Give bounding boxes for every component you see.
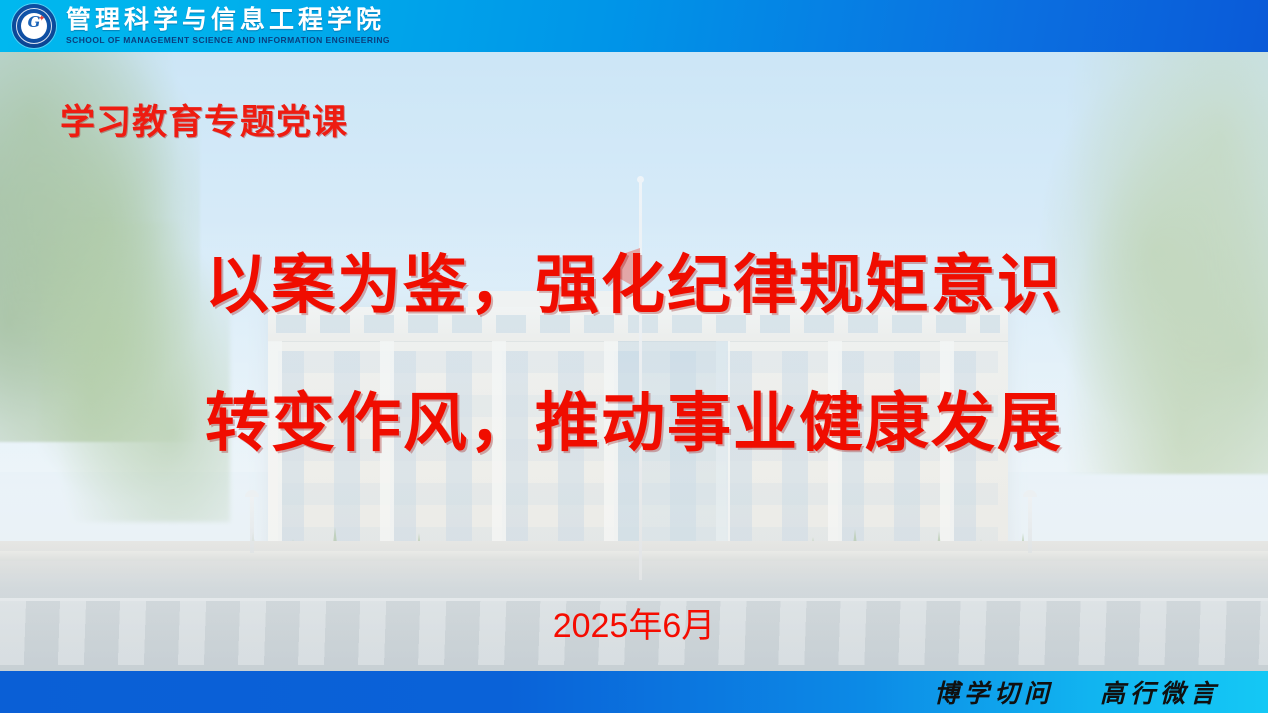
header-brand: G ✦ 管理科学与信息工程学院 SCHOOL OF MANAGEMENT SCI…	[12, 0, 390, 52]
footer-bar: 博学切问 高行微言	[0, 671, 1268, 713]
motto-phrase-right: 高行微言	[1100, 674, 1220, 710]
spark-icon: ✦	[38, 15, 45, 22]
school-name-cn: 管理科学与信息工程学院	[66, 7, 390, 33]
slide-title-line-1: 以案为鉴，强化纪律规矩意识	[0, 234, 1268, 326]
slide-title-line-2: 转变作风，推动事业健康发展	[0, 372, 1268, 464]
header-titles: 管理科学与信息工程学院 SCHOOL OF MANAGEMENT SCIENCE…	[66, 7, 390, 45]
emblem-monogram: G	[12, 15, 56, 30]
school-name-en: SCHOOL OF MANAGEMENT SCIENCE AND INFORMA…	[66, 35, 390, 45]
header-bar: G ✦ 管理科学与信息工程学院 SCHOOL OF MANAGEMENT SCI…	[0, 0, 1268, 52]
school-motto: 博学切问 高行微言	[934, 674, 1220, 710]
school-emblem-icon: G ✦	[12, 4, 56, 48]
slide-text-layer: 学习教育专题党课 以案为鉴，强化纪律规矩意识 转变作风，推动事业健康发展 202…	[0, 52, 1268, 671]
motto-phrase-left: 博学切问	[934, 674, 1054, 710]
slide-kicker: 学习教育专题党课	[60, 94, 348, 145]
presentation-slide: G ✦ 管理科学与信息工程学院 SCHOOL OF MANAGEMENT SCI…	[0, 0, 1268, 713]
slide-date: 2025年6月	[0, 598, 1268, 647]
